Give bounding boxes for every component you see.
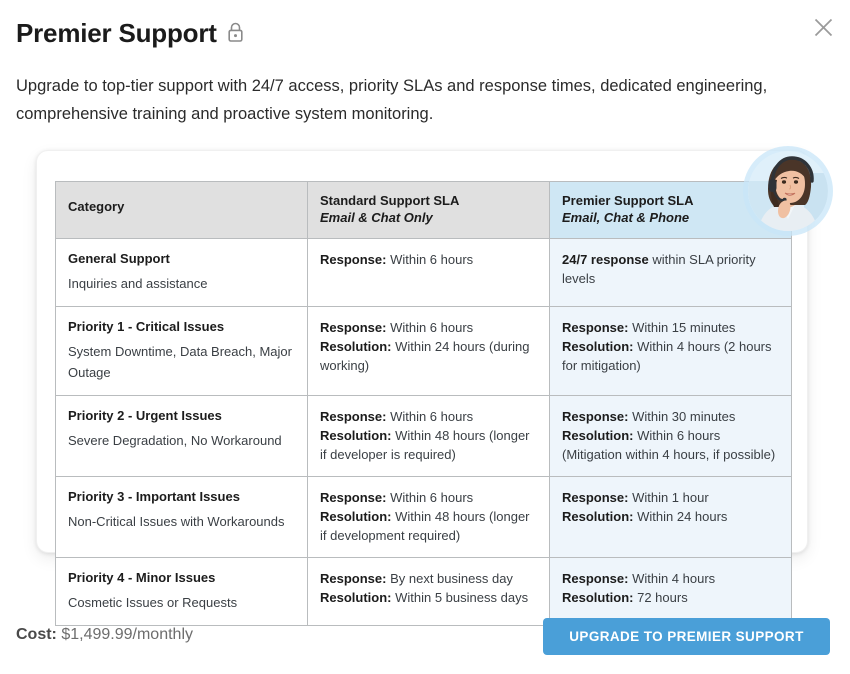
cell-premier-sla: Response: Within 1 hourResolution: Withi… — [550, 477, 792, 558]
sla-line-value: Within 6 hours — [386, 252, 473, 267]
table-body: General SupportInquiries and assistanceR… — [56, 239, 792, 626]
cell-standard-sla: Response: Within 6 hours — [308, 239, 550, 307]
cell-category: Priority 1 - Critical IssuesSystem Downt… — [56, 307, 308, 396]
premier-support-modal: Premier Support Upgrade to top-tier supp… — [0, 0, 850, 674]
close-button[interactable] — [806, 10, 840, 44]
category-description: Non-Critical Issues with Workarounds — [68, 511, 295, 532]
sla-line-label: Response: — [562, 409, 628, 424]
sla-line-value: Within 30 minutes — [628, 409, 735, 424]
cell-category: Priority 4 - Minor IssuesCosmetic Issues… — [56, 558, 308, 626]
sla-table-card: Category Standard Support SLA Email & Ch… — [36, 150, 808, 553]
sla-line-value: By next business day — [386, 571, 512, 586]
column-header-standard: Standard Support SLA Email & Chat Only — [308, 182, 550, 239]
cell-premier-sla: Response: Within 4 hoursResolution: 72 h… — [550, 558, 792, 626]
category-title: General Support — [68, 250, 295, 268]
sla-line-label: Resolution: — [320, 339, 392, 354]
table-row: General SupportInquiries and assistanceR… — [56, 239, 792, 307]
cell-standard-sla: Response: Within 6 hoursResolution: With… — [308, 307, 550, 396]
sla-line: Resolution: Within 24 hours (during work… — [320, 337, 537, 375]
cell-standard-sla: Response: Within 6 hoursResolution: With… — [308, 396, 550, 477]
modal-description: Upgrade to top-tier support with 24/7 ac… — [16, 72, 806, 128]
support-agent-avatar — [748, 151, 828, 231]
category-description: Inquiries and assistance — [68, 273, 295, 294]
cell-category: General SupportInquiries and assistance — [56, 239, 308, 307]
sla-line-label: Response: — [562, 490, 628, 505]
cost-line: Cost: $1,499.99/monthly — [16, 624, 193, 646]
sla-line: Response: Within 4 hours — [562, 569, 779, 588]
sla-line-label: Response: — [562, 320, 628, 335]
sla-line-value: Within 15 minutes — [628, 320, 735, 335]
cell-premier-sla: Response: Within 30 minutesResolution: W… — [550, 396, 792, 477]
table-row: Priority 1 - Critical IssuesSystem Downt… — [56, 307, 792, 396]
column-header-category: Category — [56, 182, 308, 239]
sla-line: Response: Within 6 hours — [320, 407, 537, 426]
sla-line-label: Resolution: — [320, 428, 392, 443]
sla-line-value: Within 6 hours — [386, 490, 473, 505]
column-header-premier-sub: Email, Chat & Phone — [562, 209, 779, 226]
category-description: Cosmetic Issues or Requests — [68, 592, 295, 613]
sla-line-label: Response: — [320, 409, 386, 424]
cell-standard-sla: Response: Within 6 hoursResolution: With… — [308, 477, 550, 558]
sla-line: Resolution: Within 48 hours (longer if d… — [320, 507, 537, 545]
sla-line-label: 24/7 response — [562, 252, 649, 267]
sla-line: Resolution: Within 5 business days — [320, 588, 537, 607]
sla-line-value: Within 6 hours — [386, 409, 473, 424]
cell-standard-sla: Response: By next business dayResolution… — [308, 558, 550, 626]
sla-line-value: Within 1 hour — [628, 490, 708, 505]
close-icon — [814, 18, 833, 37]
sla-line-label: Resolution: — [320, 509, 392, 524]
sla-line: Response: Within 1 hour — [562, 488, 779, 507]
category-title: Priority 1 - Critical Issues — [68, 318, 295, 336]
table-header: Category Standard Support SLA Email & Ch… — [56, 182, 792, 239]
sla-line-label: Response: — [320, 490, 386, 505]
sla-line-label: Resolution: — [562, 339, 634, 354]
sla-line-label: Resolution: — [562, 509, 634, 524]
cost-value: $1,499.99/monthly — [61, 626, 193, 643]
sla-line: Response: Within 6 hours — [320, 318, 537, 337]
sla-line-value: Within 4 hours — [628, 571, 715, 586]
modal-header: Premier Support — [16, 18, 244, 48]
sla-line-label: Resolution: — [320, 590, 392, 605]
cost-label: Cost: — [16, 626, 57, 643]
sla-line: Response: By next business day — [320, 569, 537, 588]
category-title: Priority 2 - Urgent Issues — [68, 407, 295, 425]
column-header-category-label: Category — [68, 193, 295, 215]
sla-line: Resolution: Within 48 hours (longer if d… — [320, 426, 537, 464]
cell-premier-sla: 24/7 response within SLA priority levels — [550, 239, 792, 307]
category-description: System Downtime, Data Breach, Major Outa… — [68, 341, 295, 383]
sla-line-label: Response: — [562, 571, 628, 586]
table-row: Priority 2 - Urgent IssuesSevere Degrada… — [56, 396, 792, 477]
cell-category: Priority 2 - Urgent IssuesSevere Degrada… — [56, 396, 308, 477]
category-title: Priority 4 - Minor Issues — [68, 569, 295, 587]
sla-line: Response: Within 6 hours — [320, 488, 537, 507]
sla-line-value: Within 6 hours — [386, 320, 473, 335]
sla-line: Resolution: Within 6 hours (Mitigation w… — [562, 426, 779, 464]
sla-line-label: Response: — [320, 252, 386, 267]
upgrade-to-premier-support-button[interactable]: UPGRADE TO PREMIER SUPPORT — [543, 618, 830, 655]
sla-line: Response: Within 30 minutes — [562, 407, 779, 426]
sla-line-label: Response: — [320, 320, 386, 335]
sla-line-label: Resolution: — [562, 428, 634, 443]
table-row: Priority 4 - Minor IssuesCosmetic Issues… — [56, 558, 792, 626]
sla-line-value: Within 5 business days — [392, 590, 529, 605]
sla-line: 24/7 response within SLA priority levels — [562, 250, 779, 288]
category-title: Priority 3 - Important Issues — [68, 488, 295, 506]
sla-line-label: Resolution: — [562, 590, 634, 605]
sla-line: Response: Within 6 hours — [320, 250, 537, 269]
sla-line-label: Response: — [320, 571, 386, 586]
sla-line-value: Within 24 hours — [634, 509, 728, 524]
sla-line: Resolution: Within 24 hours — [562, 507, 779, 526]
table-row: Priority 3 - Important IssuesNon-Critica… — [56, 477, 792, 558]
sla-comparison-table: Category Standard Support SLA Email & Ch… — [55, 181, 792, 626]
sla-line: Resolution: Within 4 hours (2 hours for … — [562, 337, 779, 375]
table-header-row: Category Standard Support SLA Email & Ch… — [56, 182, 792, 239]
column-header-standard-label: Standard Support SLA — [320, 193, 537, 209]
cell-category: Priority 3 - Important IssuesNon-Critica… — [56, 477, 308, 558]
sla-line-value: 72 hours — [634, 590, 688, 605]
sla-line: Resolution: 72 hours — [562, 588, 779, 607]
column-header-premier-label: Premier Support SLA — [562, 193, 779, 209]
sla-line: Response: Within 15 minutes — [562, 318, 779, 337]
lock-icon — [227, 22, 244, 48]
page-title: Premier Support — [16, 19, 217, 48]
cell-premier-sla: Response: Within 15 minutesResolution: W… — [550, 307, 792, 396]
column-header-standard-sub: Email & Chat Only — [320, 209, 537, 226]
category-description: Severe Degradation, No Workaround — [68, 430, 295, 451]
